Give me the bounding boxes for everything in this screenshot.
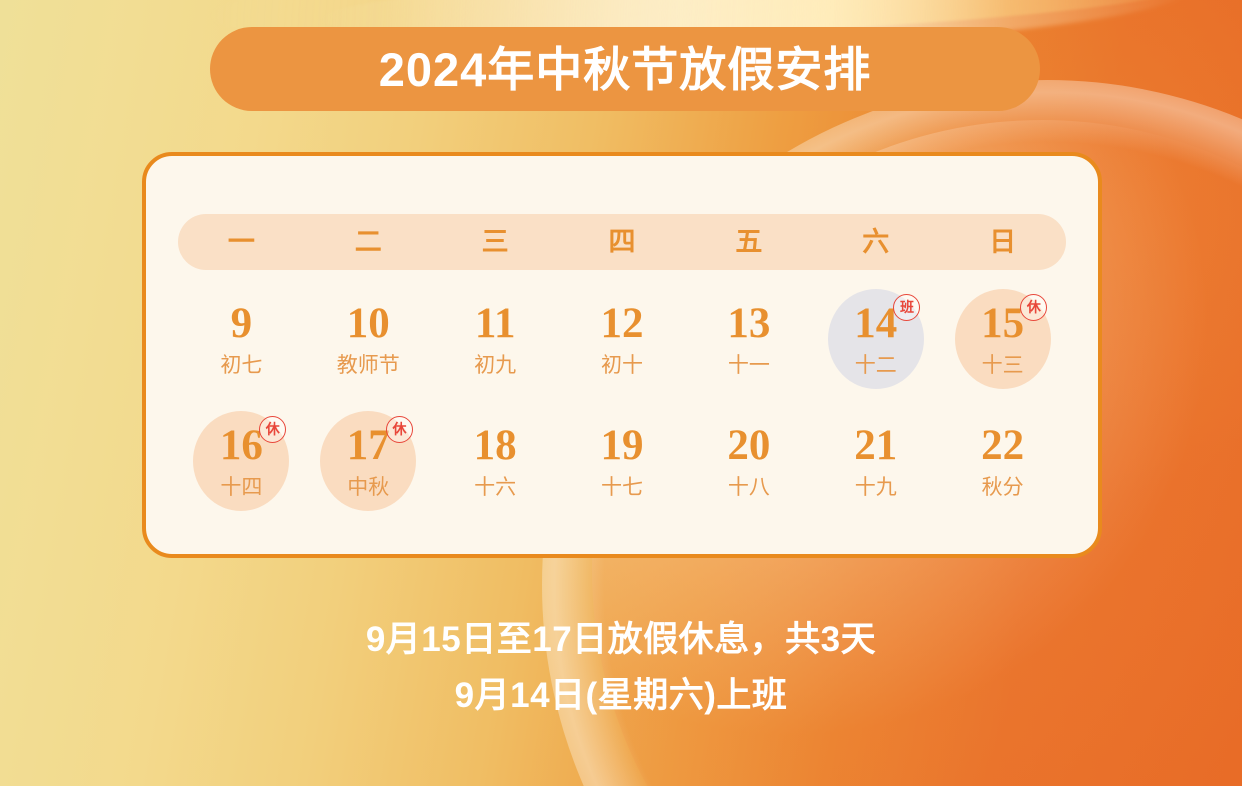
day-lunar-label: 教师节	[337, 355, 400, 376]
day-number: 22	[981, 424, 1024, 467]
day-number: 10	[347, 302, 390, 345]
calendar-day-cell[interactable]: 18 十六	[432, 406, 559, 516]
holiday-badge-icon: 休	[386, 416, 413, 443]
calendar-day-cell-holiday[interactable]: 休 17 中秋	[305, 406, 432, 516]
footer-line-holiday-range: 9月15日至17日放假休息，共3天	[0, 612, 1242, 668]
day-lunar-label: 十二	[855, 355, 897, 376]
calendar-day-cell[interactable]: 10 教师节	[305, 284, 432, 394]
weekday-header-bar: 一 二 三 四 五 六 日	[178, 214, 1066, 270]
calendar-day-cell[interactable]: 9 初七	[178, 284, 305, 394]
day-number: 11	[475, 302, 516, 345]
weekday-header-sun: 日	[939, 214, 1066, 270]
weekday-header-thu: 四	[559, 214, 686, 270]
day-lunar-label: 十四	[220, 477, 262, 498]
weekday-header-sat: 六	[812, 214, 939, 270]
day-number: 21	[854, 424, 897, 467]
calendar-day-cell-workday[interactable]: 班 14 十二	[812, 284, 939, 394]
holiday-badge-icon: 休	[259, 416, 286, 443]
day-lunar-label: 十八	[728, 477, 770, 498]
day-lunar-label: 十三	[982, 355, 1024, 376]
weekday-header-tue: 二	[305, 214, 432, 270]
day-lunar-label: 秋分	[982, 477, 1024, 498]
day-number: 12	[601, 302, 644, 345]
day-lunar-label: 十六	[474, 477, 516, 498]
day-number: 17	[347, 424, 390, 467]
weekday-header-mon: 一	[178, 214, 305, 270]
page-title: 2024年中秋节放假安排	[379, 46, 872, 93]
calendar-day-cell-holiday[interactable]: 休 16 十四	[178, 406, 305, 516]
day-number: 16	[220, 424, 263, 467]
day-number: 14	[854, 302, 897, 345]
day-number: 20	[727, 424, 770, 467]
calendar-day-cell[interactable]: 11 初九	[432, 284, 559, 394]
calendar-day-cell[interactable]: 21 十九	[812, 406, 939, 516]
holiday-notice-poster: 2024年中秋节放假安排 一 二 三 四 五 六 日 9 初七 10 教师节	[0, 0, 1242, 786]
calendar-card: 一 二 三 四 五 六 日 9 初七 10 教师节	[142, 152, 1102, 558]
footer-line-workday-notice: 9月14日(星期六)上班	[0, 668, 1242, 724]
day-number: 9	[231, 302, 253, 345]
calendar-day-cell-holiday[interactable]: 休 15 十三	[939, 284, 1066, 394]
calendar-grid: 9 初七 10 教师节 11 初九 12 初十	[178, 284, 1066, 516]
day-lunar-label: 十一	[728, 355, 770, 376]
weekday-header-wed: 三	[432, 214, 559, 270]
calendar-day-cell[interactable]: 12 初十	[559, 284, 686, 394]
day-number: 15	[981, 302, 1024, 345]
day-number: 19	[601, 424, 644, 467]
day-lunar-label: 初十	[601, 355, 643, 376]
weekday-header-fri: 五	[685, 214, 812, 270]
footer-notice: 9月15日至17日放假休息，共3天 9月14日(星期六)上班	[0, 612, 1242, 724]
day-lunar-label: 中秋	[347, 477, 389, 498]
day-lunar-label: 十七	[601, 477, 643, 498]
day-number: 13	[727, 302, 770, 345]
poster-title-banner: 2024年中秋节放假安排	[210, 27, 1040, 111]
day-number: 18	[474, 424, 517, 467]
calendar-day-cell[interactable]: 20 十八	[685, 406, 812, 516]
day-lunar-label: 初九	[474, 355, 516, 376]
calendar-day-cell[interactable]: 19 十七	[559, 406, 686, 516]
calendar-day-cell[interactable]: 22 秋分	[939, 406, 1066, 516]
day-lunar-label: 十九	[855, 477, 897, 498]
day-lunar-label: 初七	[220, 355, 262, 376]
calendar-week-row: 9 初七 10 教师节 11 初九 12 初十	[178, 284, 1066, 394]
calendar-week-row: 休 16 十四 休 17 中秋 18 十六 19	[178, 406, 1066, 516]
calendar-day-cell[interactable]: 13 十一	[685, 284, 812, 394]
